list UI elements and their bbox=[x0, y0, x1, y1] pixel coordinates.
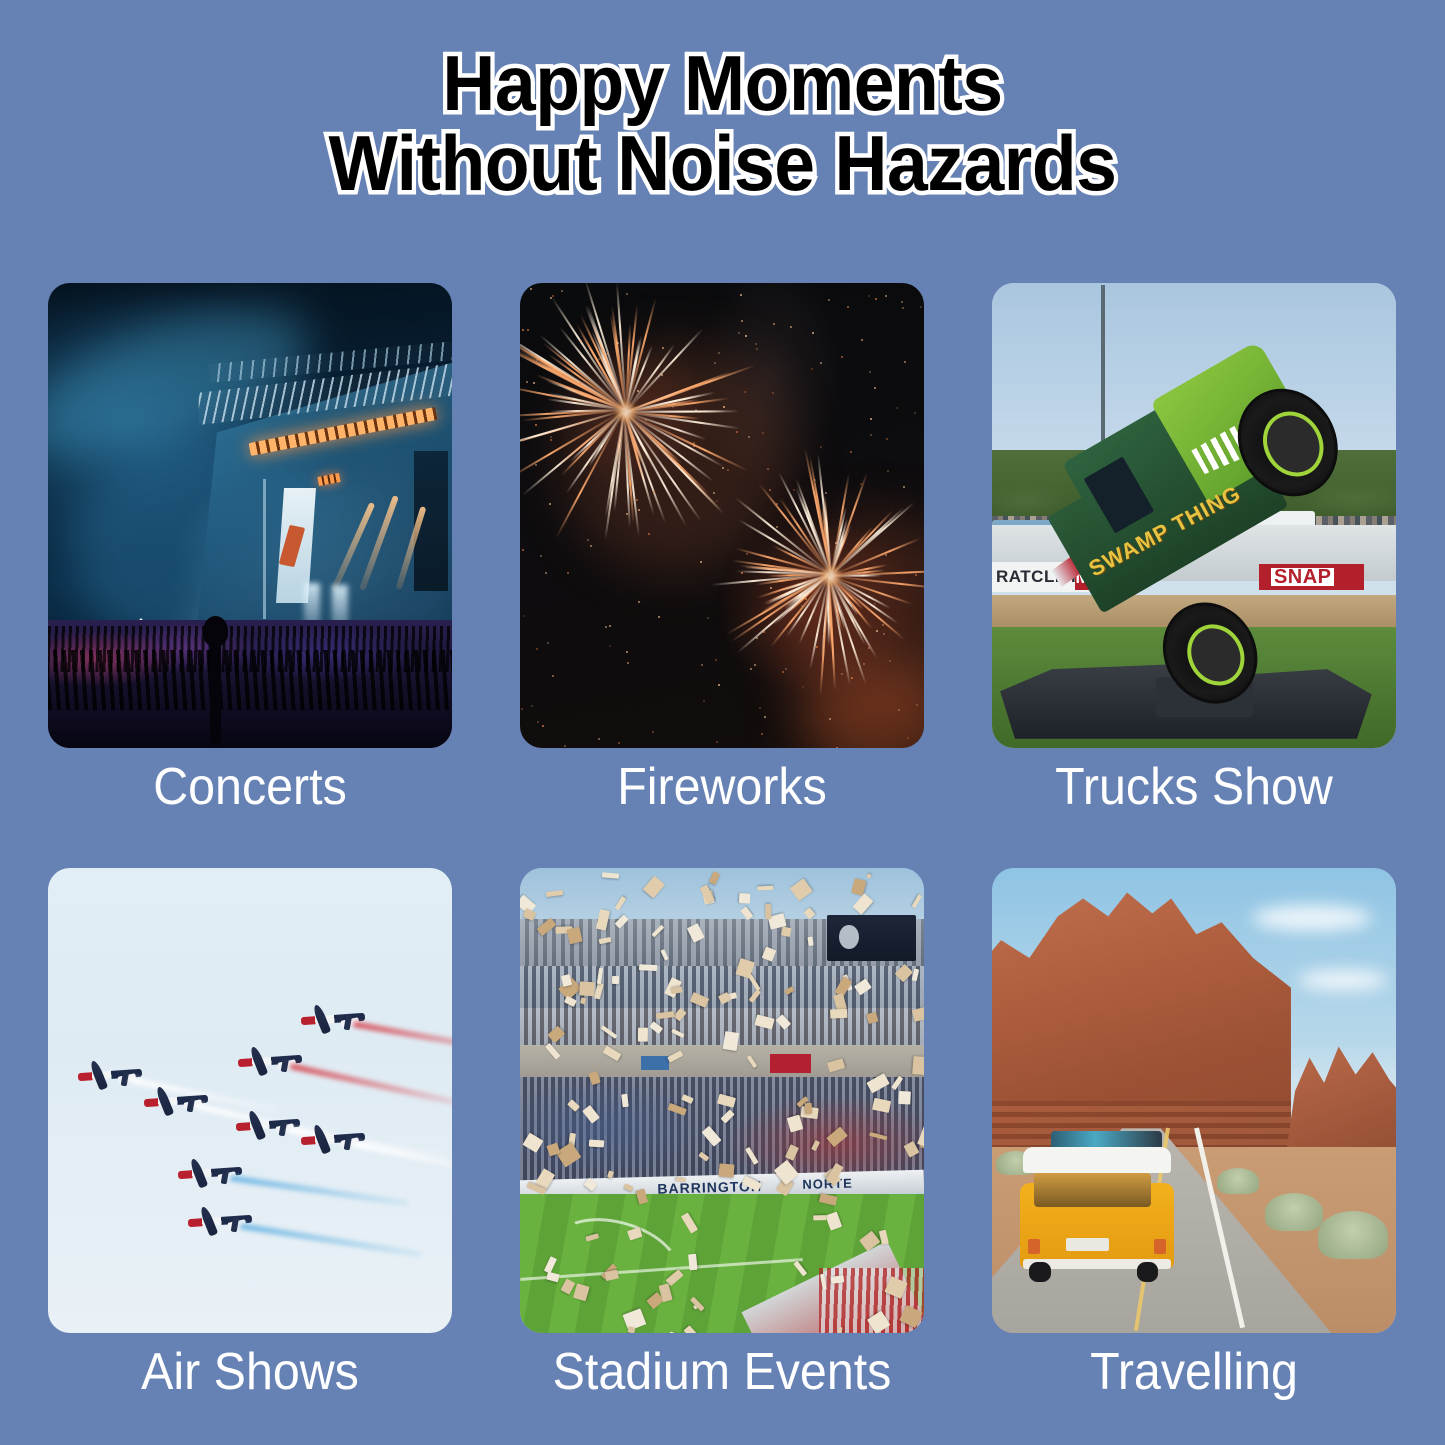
firework-spark bbox=[740, 294, 742, 296]
firework-spark bbox=[523, 615, 525, 617]
grid-cell-stadium-events: BARRINGTON NORTE Stadium Events bbox=[520, 868, 924, 1333]
caption-trucks-show: Trucks Show bbox=[1006, 757, 1382, 817]
jet-aircraft bbox=[301, 1002, 365, 1036]
firework-spark bbox=[658, 616, 660, 618]
firework-spark bbox=[874, 387, 876, 389]
smoke-trail-blue bbox=[230, 1175, 409, 1206]
grid-cell-travelling: Travelling bbox=[992, 868, 1396, 1333]
trucks-show-image: RATCLIFFE M R SNAP SWAMP THING bbox=[992, 283, 1396, 748]
grid-cell-concerts: Concerts bbox=[48, 283, 452, 748]
firework-spark bbox=[537, 721, 539, 723]
firework-spark bbox=[738, 332, 740, 334]
lamp-post bbox=[210, 636, 221, 746]
firework-spark bbox=[761, 733, 763, 735]
firework-spark bbox=[605, 626, 607, 628]
firework-spark bbox=[530, 288, 532, 290]
firework-spark bbox=[638, 601, 640, 603]
jet-aircraft bbox=[188, 1204, 252, 1238]
jet-fin bbox=[221, 1168, 230, 1185]
confetti-piece bbox=[830, 1009, 848, 1019]
firework-spark bbox=[693, 445, 695, 447]
brush-1 bbox=[1318, 1211, 1388, 1259]
van-wheel-right bbox=[1137, 1262, 1158, 1283]
caption-air-shows: Air Shows bbox=[62, 1342, 438, 1402]
van-roof bbox=[1023, 1147, 1170, 1173]
firework-spark bbox=[718, 352, 720, 354]
firework-spark bbox=[801, 605, 803, 607]
firework-spark bbox=[790, 326, 792, 328]
firework-spark bbox=[638, 509, 640, 511]
camper-van bbox=[1020, 1147, 1174, 1277]
jet-fin bbox=[231, 1216, 240, 1233]
confetti-piece bbox=[813, 1214, 826, 1220]
caption-travelling: Travelling bbox=[1006, 1342, 1382, 1402]
brush-2 bbox=[1265, 1193, 1323, 1231]
firework-spark bbox=[823, 633, 825, 635]
firework-spark bbox=[531, 705, 533, 707]
firework-spark bbox=[522, 549, 524, 551]
confetti-piece bbox=[718, 1163, 734, 1177]
firework-spark bbox=[820, 362, 822, 364]
firework-spark bbox=[723, 406, 725, 408]
firework-spark bbox=[522, 329, 524, 331]
firework-spark bbox=[630, 483, 632, 485]
caption-concerts: Concerts bbox=[62, 757, 438, 817]
grid-cell-trucks-show: RATCLIFFE M R SNAP SWAMP THING bbox=[992, 283, 1396, 748]
firework-spark bbox=[587, 539, 589, 541]
firework-spark bbox=[770, 587, 772, 589]
jet-fin bbox=[279, 1120, 288, 1137]
firework-spark bbox=[549, 503, 551, 505]
firework-spark bbox=[861, 339, 863, 341]
firework-spark bbox=[718, 684, 720, 686]
firework-spark bbox=[746, 553, 748, 555]
jet-fin bbox=[121, 1070, 130, 1087]
firework-spark bbox=[836, 747, 838, 748]
firework-spark bbox=[755, 343, 757, 345]
confetti-piece bbox=[804, 1103, 812, 1115]
confetti-piece bbox=[912, 1006, 924, 1022]
stadium-events-image: BARRINGTON NORTE bbox=[520, 868, 924, 1333]
firework-spark bbox=[745, 335, 747, 337]
firework-spark bbox=[904, 361, 906, 363]
firework-spark bbox=[773, 323, 775, 325]
firework-spark bbox=[626, 513, 628, 515]
jet-aircraft bbox=[178, 1156, 242, 1190]
firework-spark bbox=[847, 306, 849, 308]
jet-aircraft bbox=[144, 1084, 208, 1118]
firework-spark bbox=[828, 299, 830, 301]
firework-spark bbox=[714, 362, 716, 364]
confetti-piece bbox=[580, 998, 586, 1005]
firework-spark bbox=[762, 432, 764, 434]
firework-spark bbox=[609, 645, 611, 647]
firework-spark bbox=[772, 392, 774, 394]
firework-spark bbox=[812, 332, 814, 334]
firework-spark bbox=[875, 298, 877, 300]
confetti-piece bbox=[578, 982, 594, 997]
jet-aircraft bbox=[236, 1108, 300, 1142]
crowd-silhouette bbox=[48, 620, 452, 748]
smoke-trail-red bbox=[352, 1021, 452, 1055]
firework-spark bbox=[907, 737, 909, 739]
confetti-piece bbox=[898, 1091, 910, 1104]
firework-spark bbox=[825, 492, 827, 494]
firework-spark bbox=[896, 407, 898, 409]
firework-spark bbox=[526, 381, 528, 383]
jet-aircraft bbox=[301, 1122, 365, 1156]
firework-spark bbox=[672, 406, 674, 408]
confetti-piece bbox=[612, 976, 620, 984]
van-taillight-right bbox=[1154, 1239, 1166, 1253]
firework-spark bbox=[703, 700, 705, 702]
concerts-image bbox=[48, 283, 452, 748]
firework-spark bbox=[545, 572, 547, 574]
stand-tier-2 bbox=[520, 1008, 924, 1050]
firework-spark bbox=[820, 446, 822, 448]
firework-spark bbox=[567, 572, 569, 574]
confetti-piece bbox=[638, 1028, 648, 1042]
firework-spark bbox=[727, 469, 729, 471]
van-wheel-left bbox=[1029, 1262, 1050, 1283]
firework-core-2 bbox=[820, 565, 842, 587]
jet-fin bbox=[344, 1134, 353, 1151]
firework-spark bbox=[782, 671, 784, 673]
confetti-piece bbox=[627, 1327, 635, 1333]
smoke-trail-blue bbox=[240, 1223, 424, 1258]
firework-spark bbox=[564, 745, 566, 747]
title-line-2: Without Noise Hazards bbox=[43, 124, 1401, 204]
firework-spark bbox=[693, 442, 695, 444]
jet-aircraft bbox=[78, 1058, 142, 1092]
jet-fin bbox=[344, 1014, 353, 1031]
firework-spark bbox=[902, 307, 904, 309]
van-licence-plate bbox=[1066, 1238, 1109, 1251]
stage-pole bbox=[263, 479, 266, 619]
confetti-piece bbox=[739, 893, 750, 903]
grid-cell-fireworks: Fireworks bbox=[520, 283, 924, 748]
grid-cell-air-shows: Air Shows bbox=[48, 868, 452, 1333]
caption-stadium-events: Stadium Events bbox=[534, 1342, 910, 1402]
firework-spark bbox=[868, 295, 870, 297]
firework-spark bbox=[869, 371, 871, 373]
firework-spark bbox=[540, 555, 542, 557]
firework-spark bbox=[886, 438, 888, 440]
firework-spark bbox=[863, 663, 865, 665]
air-shows-image bbox=[48, 868, 452, 1333]
confetti-piece bbox=[757, 885, 773, 890]
firework-spark bbox=[785, 668, 787, 670]
firework-spark bbox=[722, 467, 724, 469]
scoreboard bbox=[827, 915, 916, 962]
firework-spark bbox=[533, 382, 535, 384]
firework-spark bbox=[536, 359, 538, 361]
confetti-piece bbox=[671, 986, 683, 994]
firework-spark bbox=[661, 374, 663, 376]
confetti-piece bbox=[912, 1056, 924, 1075]
fireworks-image bbox=[520, 283, 924, 748]
firework-spark bbox=[805, 598, 807, 600]
firework-spark bbox=[776, 503, 778, 505]
firework-spark bbox=[850, 451, 852, 453]
firework-spark bbox=[763, 631, 765, 633]
firework-spark bbox=[756, 348, 758, 350]
firework-spark bbox=[521, 708, 523, 710]
firework-spark bbox=[882, 624, 884, 626]
firework-spark bbox=[736, 431, 738, 433]
firework-spark bbox=[542, 725, 544, 727]
use-case-grid: Concerts Fireworks RATCLIFFE M R bbox=[48, 283, 1397, 1333]
jet-fin bbox=[187, 1096, 196, 1113]
confetti-piece bbox=[830, 1275, 844, 1283]
firework-spark bbox=[701, 664, 703, 666]
firework-spark bbox=[707, 617, 709, 619]
jet-fin bbox=[281, 1056, 290, 1073]
firework-spark bbox=[552, 295, 554, 297]
firework-spark bbox=[759, 707, 761, 709]
firework-spark bbox=[618, 386, 620, 388]
firework-spark bbox=[887, 470, 889, 472]
firework-spark bbox=[598, 738, 600, 740]
firework-spark bbox=[618, 742, 620, 744]
firework-spark bbox=[550, 436, 552, 438]
firework-spark bbox=[756, 637, 758, 639]
firework-spark bbox=[868, 647, 870, 649]
firework-spark bbox=[741, 320, 743, 322]
firework-spark bbox=[764, 716, 766, 718]
firework-spark bbox=[523, 439, 525, 441]
firework-spark bbox=[920, 306, 922, 308]
brush-3 bbox=[1217, 1168, 1259, 1194]
advert-blue bbox=[641, 1056, 669, 1070]
firework-spark bbox=[914, 412, 916, 414]
firework-spark bbox=[903, 486, 905, 488]
firework-spark bbox=[617, 342, 619, 344]
firework-spark bbox=[835, 542, 837, 544]
firework-spark bbox=[561, 290, 563, 292]
caption-fireworks: Fireworks bbox=[534, 757, 910, 817]
firework-spark bbox=[829, 718, 831, 720]
firework-core-1 bbox=[615, 401, 637, 423]
firework-spark bbox=[851, 677, 853, 679]
confetti-piece bbox=[588, 1139, 604, 1147]
firework-spark bbox=[580, 382, 582, 384]
firework-spark bbox=[814, 479, 816, 481]
confetti-piece bbox=[764, 904, 771, 919]
travelling-image bbox=[992, 868, 1396, 1333]
firework-spark bbox=[793, 489, 795, 491]
firework-spark bbox=[626, 651, 628, 653]
firework-spark bbox=[870, 418, 872, 420]
smoke-trail-red bbox=[289, 1063, 452, 1106]
firework-spark bbox=[885, 295, 887, 297]
firework-spark bbox=[841, 356, 843, 358]
firework-spark bbox=[874, 603, 876, 605]
firework-spark bbox=[535, 424, 537, 426]
jet-aircraft bbox=[238, 1044, 302, 1078]
van-rear-window bbox=[1034, 1173, 1151, 1207]
confetti-piece bbox=[723, 1031, 739, 1050]
van-taillight-left bbox=[1028, 1239, 1040, 1253]
firework-spark bbox=[870, 434, 872, 436]
firework-spark bbox=[550, 439, 552, 441]
firework-spark bbox=[609, 625, 611, 627]
firework-spark bbox=[598, 358, 600, 360]
cloud-1 bbox=[1252, 905, 1372, 931]
firework-spark bbox=[552, 675, 554, 677]
firework-spark bbox=[754, 664, 756, 666]
page-title: Happy Moments Without Noise Hazards bbox=[0, 44, 1445, 203]
firework-spark bbox=[547, 642, 549, 644]
firework-spark bbox=[627, 662, 629, 664]
title-line-1: Happy Moments bbox=[43, 44, 1401, 124]
firework-spark bbox=[527, 329, 529, 331]
firework-spark bbox=[716, 741, 718, 743]
firework-spark bbox=[901, 301, 903, 303]
advert-red bbox=[770, 1054, 810, 1073]
firework-spark bbox=[807, 581, 809, 583]
firework-spark bbox=[535, 464, 537, 466]
firework-spark bbox=[580, 340, 582, 342]
firework-spark bbox=[652, 731, 654, 733]
firework-spark bbox=[695, 409, 697, 411]
firework-spark bbox=[536, 648, 538, 650]
firework-spark bbox=[715, 659, 717, 661]
firework-spark bbox=[590, 545, 592, 547]
firework-spark bbox=[776, 526, 778, 528]
confetti-piece bbox=[688, 1254, 698, 1271]
firework-spark bbox=[750, 668, 752, 670]
cloud-2 bbox=[1298, 970, 1388, 990]
firework-spark bbox=[811, 368, 813, 370]
firework-spark bbox=[626, 293, 628, 295]
